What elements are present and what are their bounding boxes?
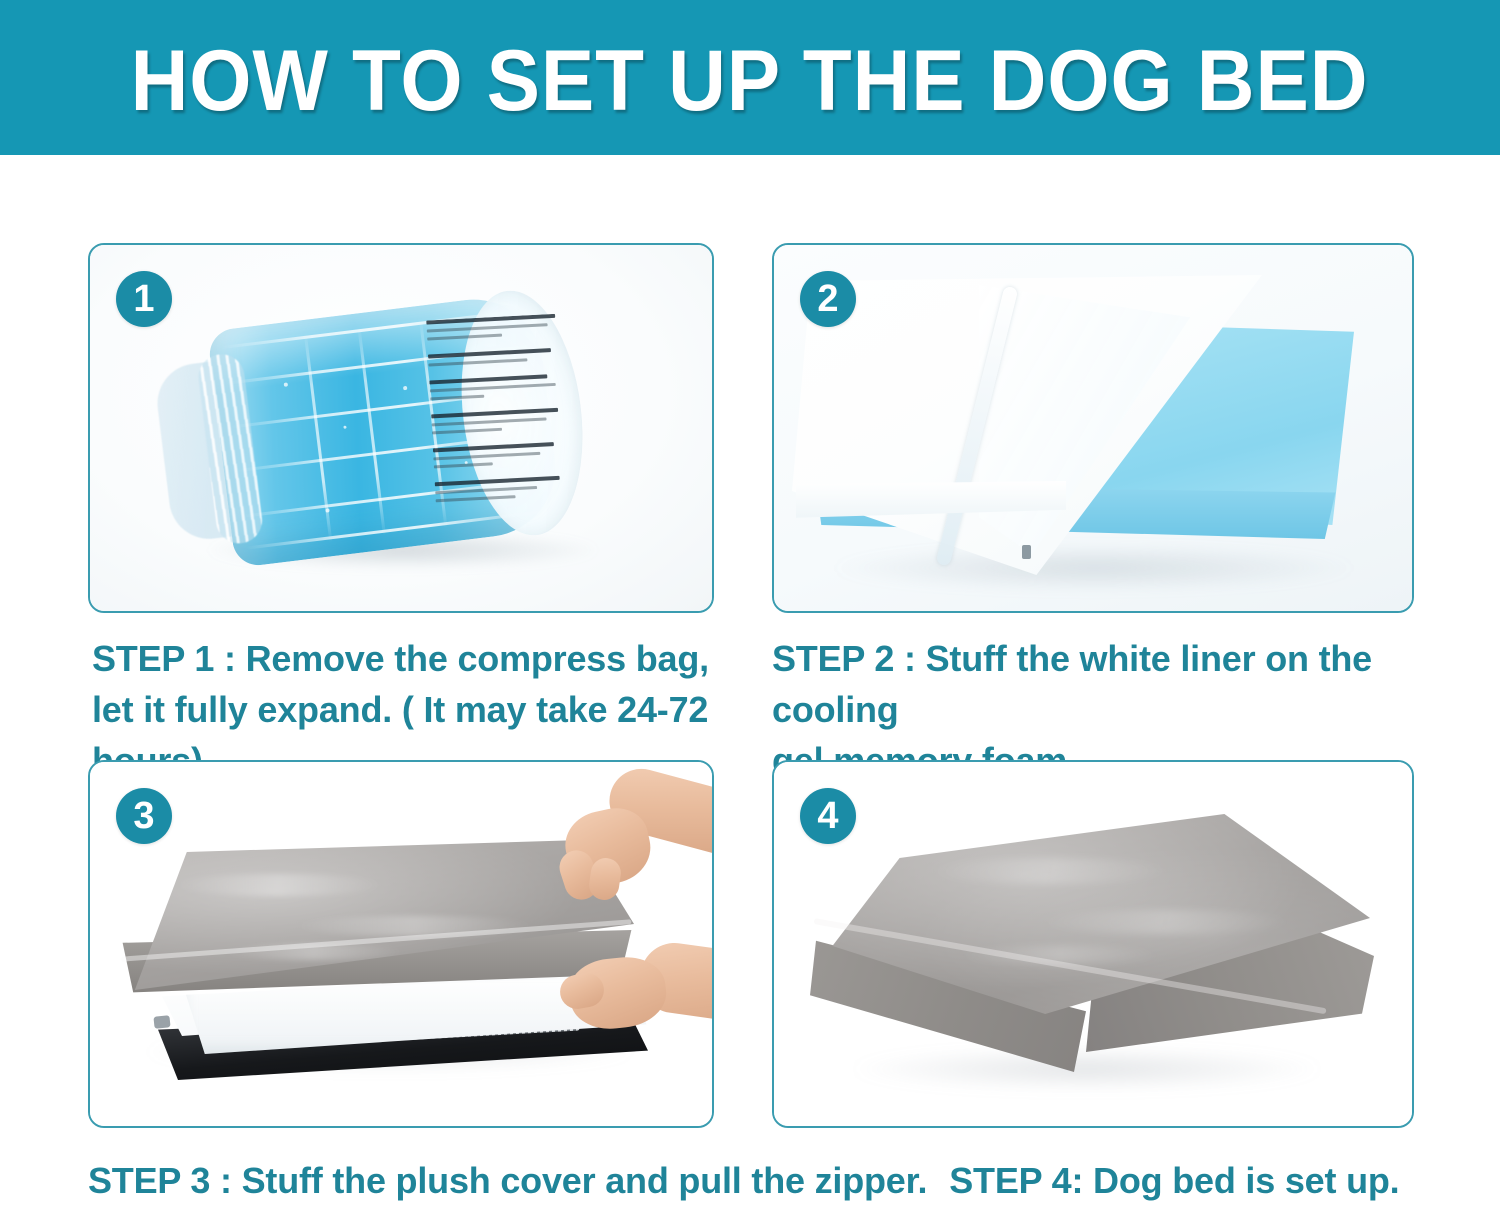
steps-board: 1 2 STEP 1 : Remove the compress bag, le… xyxy=(0,155,1500,1217)
step-3-caption: STEP 3 : Stuff the plush cover and pull … xyxy=(88,1155,927,1206)
step-3-photo xyxy=(90,762,712,1126)
step-3-image-panel: 3 xyxy=(88,760,714,1128)
step-3-badge: 3 xyxy=(116,788,172,844)
bottom-caption-row: STEP 3 : Stuff the plush cover and pull … xyxy=(88,1155,1468,1206)
step-1-photo xyxy=(90,245,712,611)
step-2-badge: 2 xyxy=(800,271,856,327)
compressed-roll xyxy=(176,278,623,577)
drop-shadow xyxy=(852,1048,1322,1090)
header-banner: HOW TO SET UP THE DOG BED xyxy=(0,0,1500,155)
step-2-photo xyxy=(774,245,1412,611)
hand-lower xyxy=(560,944,714,1064)
zipper-pull-icon xyxy=(1022,545,1031,559)
step-1-image-panel: 1 xyxy=(88,243,714,613)
hand-upper xyxy=(538,780,714,910)
step-4-image-panel: 4 xyxy=(772,760,1414,1128)
step-4-badge: 4 xyxy=(800,788,856,844)
step-2-image-panel: 2 xyxy=(772,243,1414,613)
zipper-pull-icon xyxy=(153,1015,170,1029)
step-4-photo xyxy=(774,762,1412,1126)
page-title: HOW TO SET UP THE DOG BED xyxy=(131,32,1369,124)
drop-shadow xyxy=(834,545,1354,591)
step-4-caption: STEP 4: Dog bed is set up. xyxy=(949,1155,1399,1206)
warning-label-text xyxy=(426,314,570,519)
step-1-badge: 1 xyxy=(116,271,172,327)
